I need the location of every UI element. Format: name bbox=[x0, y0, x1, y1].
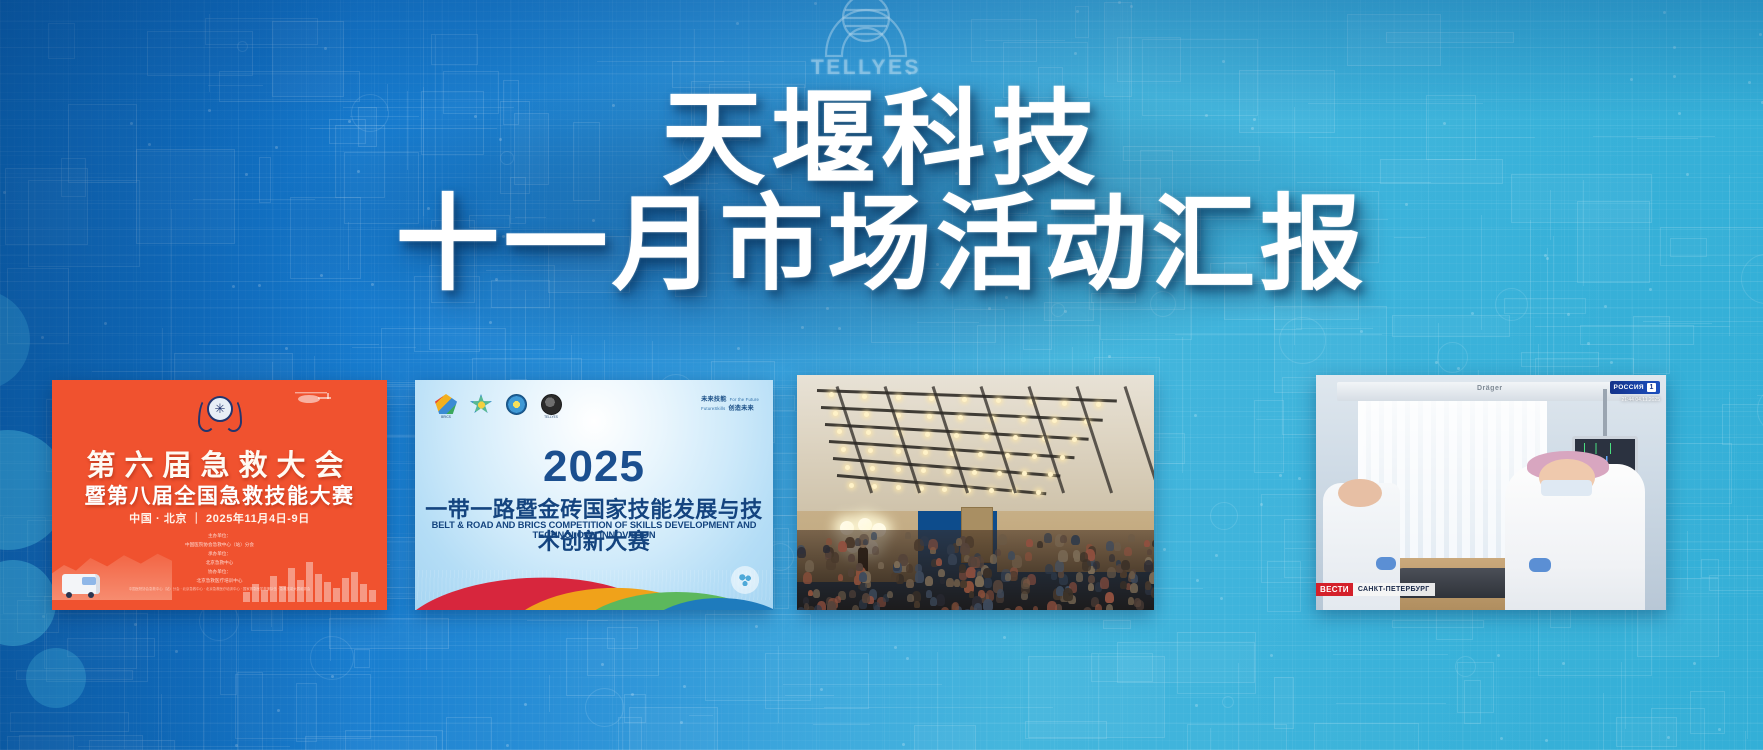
photo-strip: ✳ 第六届急救大会 暨第八届全国急救技能大赛 中国 · 北京 ｜ 2025年11… bbox=[0, 0, 1763, 750]
tv-lower-third: ВЕСТИ САНКТ-ПЕТЕРБУРГ bbox=[1316, 583, 1435, 596]
russia1-channel-logo: РОССИЯ 1 bbox=[1610, 381, 1660, 394]
p2-slogan: 未来技能For the Future FutureSkills创造未来 bbox=[701, 394, 759, 412]
lower-third-program: ВЕСТИ bbox=[1316, 583, 1353, 596]
photo-conference-hall[interactable] bbox=[797, 375, 1154, 610]
org-logo-icon bbox=[503, 394, 529, 420]
glove-right bbox=[1529, 558, 1551, 572]
nurse-figure bbox=[1505, 464, 1645, 610]
lower-third-region: САНКТ-ПЕТЕРБУРГ bbox=[1353, 583, 1435, 596]
congress-emblem-icon: ✳ bbox=[196, 394, 244, 438]
photo-clinical-simulation-russia[interactable]: Dräger 72 98 120/80 РОССИЯ 1 21:44 04.11… bbox=[1316, 375, 1666, 610]
p1-org-1: 主办单位：中国医院协会急救中心（站）分会 bbox=[52, 532, 387, 549]
tv-channel-name: РОССИЯ bbox=[1614, 384, 1644, 391]
p2-wave-graphic bbox=[415, 552, 773, 610]
helicopter-icon bbox=[293, 388, 333, 406]
p1-subtitle: 暨第八届全国急救技能大赛 bbox=[52, 480, 387, 510]
ambulance-icon bbox=[62, 574, 100, 594]
tv-timestamp: 21:44 04.11.2025 bbox=[1621, 397, 1660, 403]
tellyes-logo-icon: TELLYES bbox=[538, 394, 564, 420]
hall-audience bbox=[797, 530, 1154, 610]
marketing-banner: TELLYES 天堰科技 十一月市场活动汇报 bbox=[0, 0, 1763, 750]
device-brand-label: Dräger bbox=[1477, 385, 1503, 392]
skills-logo-icon bbox=[468, 394, 494, 420]
p1-date: 中国 · 北京 ｜ 2025年11月4日-9日 bbox=[52, 510, 387, 526]
photo-belt-road-brics[interactable]: BRICS TELLYES 未来技能For the Future FutureS… bbox=[415, 380, 773, 610]
p1-title: 第六届急救大会 bbox=[52, 442, 387, 484]
photo-emergency-congress[interactable]: ✳ 第六届急救大会 暨第八届全国急救技能大赛 中国 · 北京 ｜ 2025年11… bbox=[52, 380, 387, 610]
p2-year: 2025 bbox=[415, 442, 773, 492]
city-skyline bbox=[243, 558, 373, 602]
p2-title-en: BELT & ROAD AND BRICS COMPETITION OF SKI… bbox=[415, 520, 773, 540]
glove-left bbox=[1376, 557, 1396, 570]
p2-sponsor-logos: BRICS TELLYES bbox=[433, 394, 564, 420]
tv-channel-number: 1 bbox=[1647, 383, 1656, 392]
brics-logo-icon: BRICS bbox=[433, 394, 459, 420]
p2-corner-badge-icon bbox=[731, 566, 759, 594]
